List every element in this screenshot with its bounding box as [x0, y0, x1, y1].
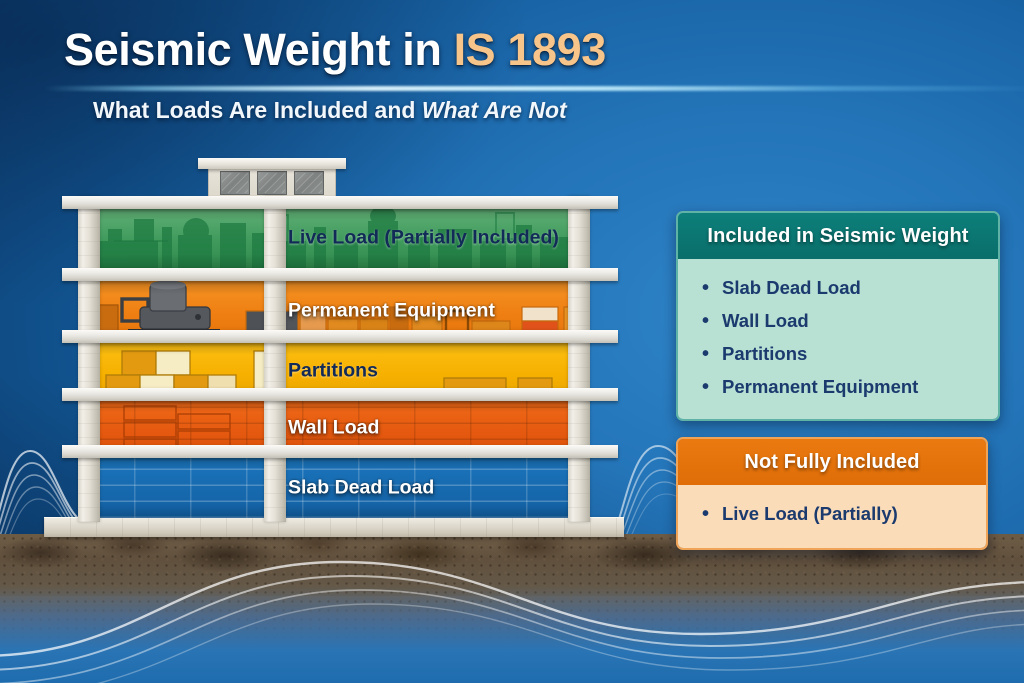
- subtitle-regular-text: What Loads Are Included and: [93, 97, 422, 123]
- panel-included-heading: Included in Seismic Weight: [678, 213, 998, 259]
- panel-partial-body: Live Load (Partially): [678, 485, 986, 548]
- list-item[interactable]: Wall Load: [702, 305, 980, 338]
- floor-live-load[interactable]: Live Load (Partially Included): [78, 207, 590, 269]
- list-item[interactable]: Partitions: [702, 338, 980, 371]
- infographic-canvas: Seismic Weight in IS 1893 What Loads Are…: [0, 0, 1024, 683]
- floor-label-slab-dead-load: Slab Dead Load: [288, 476, 434, 499]
- column-right: [568, 196, 590, 522]
- floor-label-wall-load: Wall Load: [288, 417, 379, 440]
- panel-included-in-seismic-weight[interactable]: Included in Seismic Weight Slab Dead Loa…: [676, 211, 1000, 421]
- floor-label-partitions: Partitions: [288, 359, 378, 382]
- roof-slab: [62, 196, 618, 209]
- floor-slab-3: [62, 330, 618, 343]
- page-title: Seismic Weight in IS 1893: [64, 26, 606, 75]
- subtitle-italic-text: What Are Not: [422, 97, 567, 123]
- panel-included-body: Slab Dead Load Wall Load Partitions Perm…: [678, 259, 998, 419]
- floor-slab-4: [62, 268, 618, 281]
- included-list: Slab Dead Load Wall Load Partitions Perm…: [702, 272, 980, 404]
- list-item[interactable]: Permanent Equipment: [702, 371, 980, 404]
- floor-slab-1: [62, 445, 618, 458]
- title-divider-glow: [44, 86, 1024, 91]
- floor-slab-dead-load[interactable]: Slab Dead Load: [78, 457, 590, 518]
- title-accent-text: IS 1893: [454, 24, 606, 75]
- penthouse-window: [294, 171, 324, 195]
- panel-partial-heading: Not Fully Included: [678, 439, 986, 485]
- column-middle: [264, 196, 286, 522]
- list-item[interactable]: Live Load (Partially): [702, 498, 968, 531]
- title-main-text: Seismic Weight in: [64, 24, 454, 75]
- foundation-slab: [44, 517, 624, 537]
- page-subtitle: What Loads Are Included and What Are Not: [93, 97, 567, 124]
- floor-label-live-load: Live Load (Partially Included): [288, 227, 559, 250]
- partial-list: Live Load (Partially): [702, 498, 968, 531]
- list-item[interactable]: Slab Dead Load: [702, 272, 980, 305]
- column-left: [78, 196, 100, 522]
- panel-not-fully-included[interactable]: Not Fully Included Live Load (Partially): [676, 437, 988, 550]
- floor-label-permanent-equipment: Permanent Equipment: [288, 300, 495, 323]
- floor-slab-2: [62, 388, 618, 401]
- roof-penthouse: [208, 166, 336, 200]
- penthouse-window: [257, 171, 287, 195]
- title-block: Seismic Weight in IS 1893: [64, 26, 606, 75]
- penthouse-window: [220, 171, 250, 195]
- penthouse-roof-cap: [198, 158, 346, 169]
